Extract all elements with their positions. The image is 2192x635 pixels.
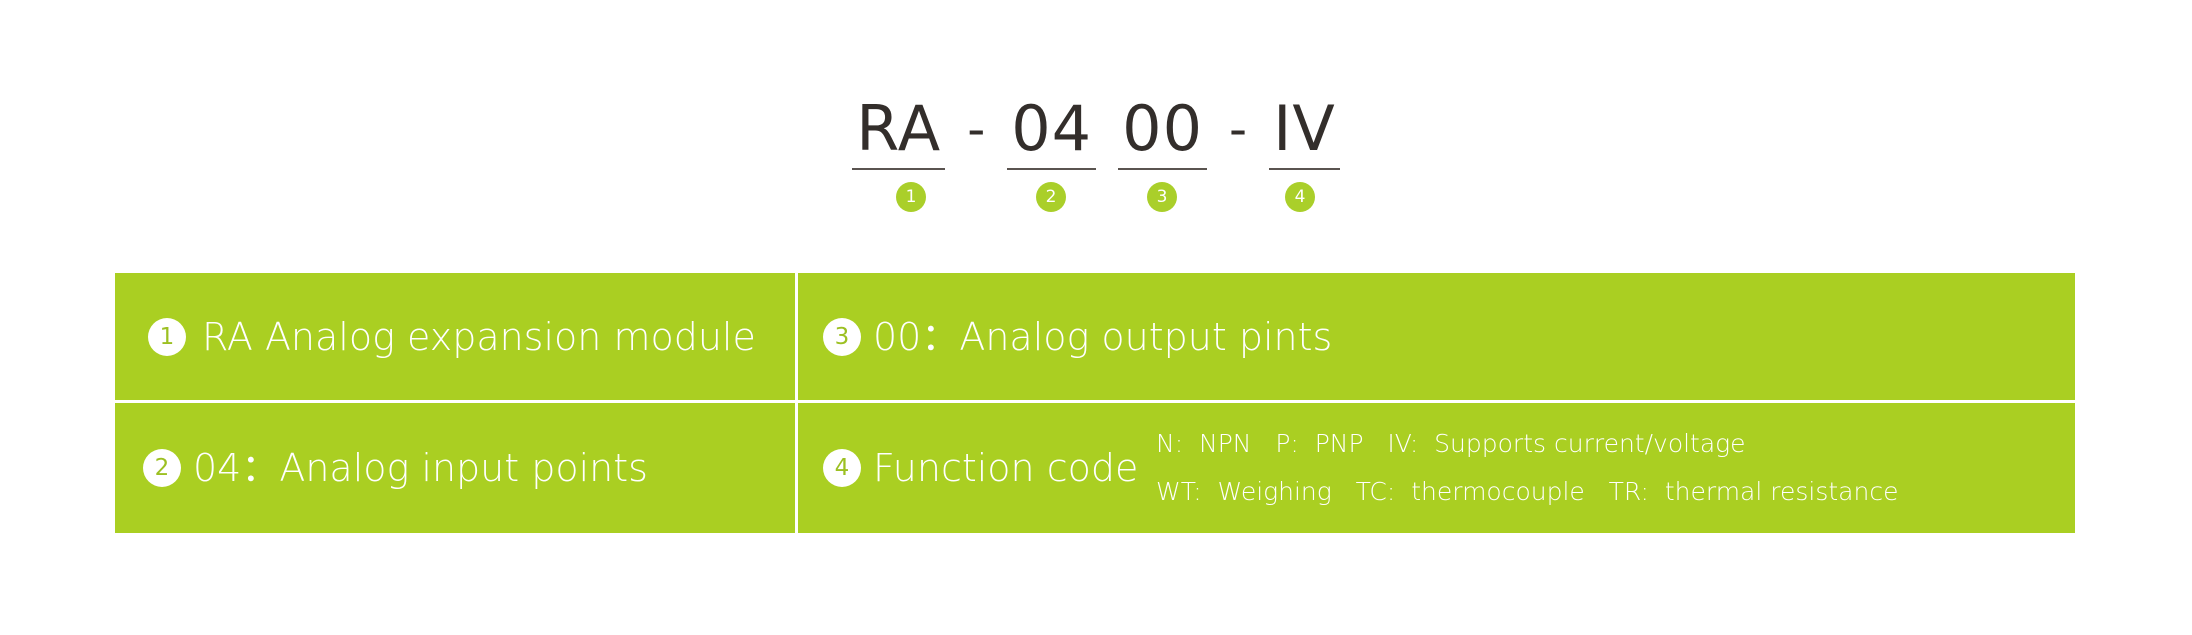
function-code-legend: N: NPN P: PNP IV: Supports current/volta…: [1156, 430, 1898, 506]
model-code-row: RA - 04 00 - IV: [0, 96, 2192, 168]
cell-label-2: 04：Analog input points: [193, 446, 648, 490]
code-badge-1: 1: [896, 182, 926, 212]
cell-badge-4: 4: [823, 449, 861, 487]
code-segment-1: RA: [852, 96, 945, 170]
cell-badge-1: 1: [148, 318, 186, 356]
code-badge-3: 3: [1147, 182, 1177, 212]
cell-label-4: Function code: [873, 446, 1138, 490]
cell-label-3: 00：Analog output pints: [873, 315, 1332, 359]
cell-label-1: RA Analog expansion module: [202, 315, 756, 359]
cell-badge-3: 3: [823, 318, 861, 356]
table-cell-3: 3 00：Analog output pints: [798, 273, 2075, 403]
code-separator-2: -: [1225, 96, 1251, 168]
function-code-legend-line-2: WT: Weighing TC: thermocouple TR: therma…: [1156, 478, 1898, 506]
code-segment-2: 04: [1007, 96, 1096, 170]
model-code-legend-table: 1 RA Analog expansion module 3 00：Analog…: [115, 273, 2075, 533]
cell-badge-2: 2: [143, 449, 181, 487]
table-cell-4: 4 Function code N: NPN P: PNP IV: Suppor…: [798, 403, 2075, 533]
code-badge-2: 2: [1036, 182, 1066, 212]
code-segment-4: IV: [1269, 96, 1340, 170]
model-code-diagram: RA - 04 00 - IV 1 2 3 4: [0, 0, 2192, 230]
code-badge-4: 4: [1285, 182, 1315, 212]
code-separator-1: -: [963, 96, 989, 168]
table-cell-1: 1 RA Analog expansion module: [115, 273, 798, 403]
model-code-badge-row: 1 2 3 4: [0, 182, 2192, 222]
function-code-legend-line-1: N: NPN P: PNP IV: Supports current/volta…: [1156, 430, 1898, 458]
code-segment-3: 00: [1118, 96, 1207, 170]
table-cell-2: 2 04：Analog input points: [115, 403, 798, 533]
